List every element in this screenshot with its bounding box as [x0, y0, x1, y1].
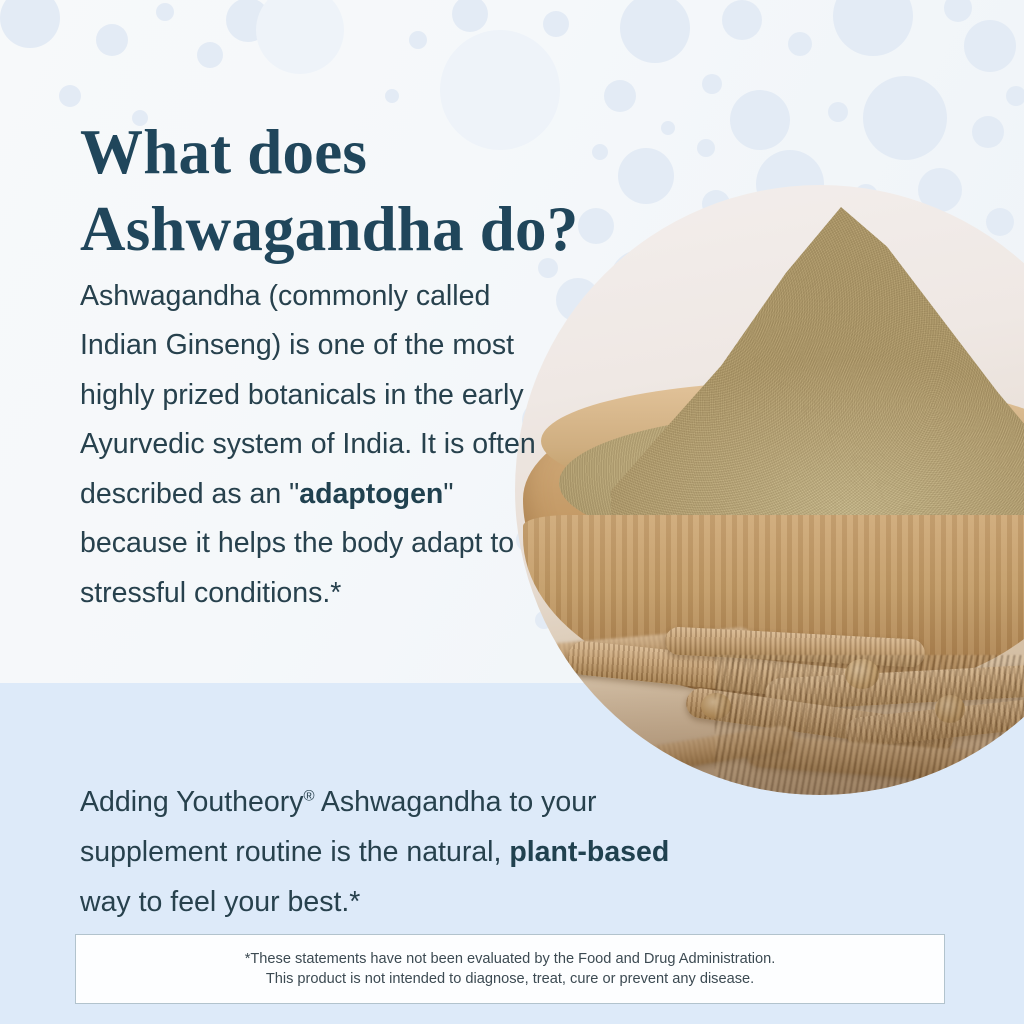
body-paragraph-emphasis-adaptogen: adaptogen — [299, 478, 443, 510]
fda-disclaimer-box: *These statements have not been evaluate… — [75, 934, 945, 1004]
page-title: What does Ashwagandha do? — [80, 114, 680, 268]
page-title-line-2: Ashwagandha do? — [80, 194, 578, 264]
closing-paragraph: Adding Youtheory® Ashwagandha to your su… — [80, 777, 680, 927]
photo-bottom-shadow — [515, 655, 1024, 795]
body-paragraph-part-1: Ashwagandha (commonly called Indian Gins… — [80, 280, 536, 510]
fda-disclaimer-line-2: This product is not intended to diagnose… — [266, 969, 754, 989]
closing-paragraph-part-3: way to feel your best.* — [80, 886, 360, 918]
closing-paragraph-part-1: Adding Youtheory — [80, 786, 303, 818]
body-paragraph: Ashwagandha (commonly called Indian Gins… — [80, 272, 560, 619]
closing-paragraph-emphasis-plant-based: plant-based — [509, 836, 669, 868]
ashwagandha-bowl-photo — [515, 185, 1024, 795]
fda-disclaimer-line-1: *These statements have not been evaluate… — [245, 949, 776, 969]
registered-trademark-symbol: ® — [303, 787, 314, 804]
page-title-line-1: What does — [80, 117, 367, 187]
infographic-canvas: What does Ashwagandha do? Ashwagandha (c… — [0, 0, 1024, 1024]
